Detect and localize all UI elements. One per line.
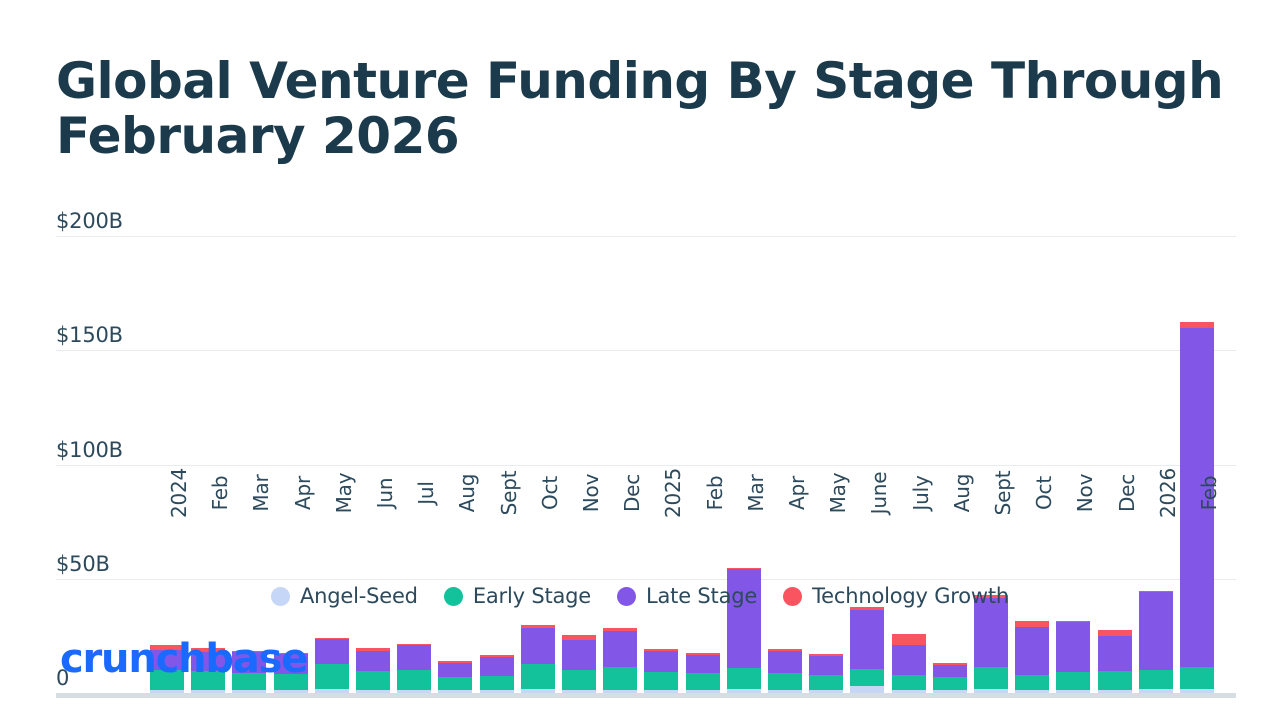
- bar-segment-early-stage: [727, 668, 761, 690]
- x-axis-tick-label: Oct: [538, 476, 562, 510]
- bar-segment-late-stage: [809, 656, 843, 675]
- x-axis-tick-label: May: [332, 473, 356, 514]
- x-axis-tick: Aug: [438, 493, 472, 559]
- x-axis-tick-label: 2025: [661, 468, 685, 518]
- x-axis-tick: 2026: [1139, 493, 1173, 559]
- bar-segment-technology-growth: [1180, 322, 1214, 329]
- x-axis-tick: Mar: [727, 493, 761, 559]
- bar-segment-early-stage: [768, 673, 802, 690]
- bar-segment-early-stage: [1098, 671, 1132, 689]
- x-axis-tick: Apr: [768, 493, 802, 559]
- bar-segment-late-stage: [603, 631, 637, 666]
- x-axis-tick: Feb: [686, 493, 720, 559]
- x-axis-tick: Sept: [974, 493, 1008, 559]
- legend-swatch-icon: [444, 587, 463, 606]
- bar-segment-early-stage: [892, 675, 926, 690]
- bar-stack[interactable]: [438, 661, 472, 693]
- bar-segment-late-stage: [480, 657, 514, 676]
- bar-segment-late-stage: [1098, 636, 1132, 671]
- plot-area: $200B$150B$100B$50B0: [56, 210, 1236, 486]
- bar-stack[interactable]: [315, 638, 349, 693]
- bar-segment-early-stage: [1015, 675, 1049, 690]
- bar-segment-angel-seed: [850, 686, 884, 693]
- x-axis-tick: Mar: [232, 493, 266, 559]
- x-axis-tick: Sept: [480, 493, 514, 559]
- x-axis-tick-label: Sept: [991, 471, 1015, 516]
- x-axis-tick: Jul: [397, 493, 431, 559]
- x-axis-tick-label: Jul: [414, 481, 438, 505]
- bar-segment-early-stage: [397, 670, 431, 689]
- bar-segment-late-stage: [768, 651, 802, 673]
- bar-stack[interactable]: [933, 663, 967, 693]
- x-axis-tick: May: [315, 493, 349, 559]
- bar-segment-early-stage: [974, 667, 1008, 690]
- page-title: Global Venture Funding By Stage Through …: [56, 54, 1246, 164]
- bar-stack[interactable]: [850, 607, 884, 693]
- x-axis-tick-label: 2024: [167, 468, 191, 518]
- bar-stack[interactable]: [768, 649, 802, 693]
- x-axis-tick-label: Nov: [579, 474, 603, 512]
- legend-item-early-stage[interactable]: Early Stage: [444, 584, 591, 608]
- chart-page: Global Venture Funding By Stage Through …: [0, 0, 1280, 715]
- x-axis-tick: 2025: [644, 493, 678, 559]
- x-axis-tick-label: Oct: [1032, 476, 1056, 510]
- bar-segment-early-stage: [1056, 672, 1090, 689]
- x-axis-tick: Oct: [521, 493, 555, 559]
- x-axis-tick-label: July: [909, 475, 933, 510]
- x-axis-tick-label: Feb: [1197, 476, 1221, 511]
- x-axis-tick-label: Jun: [373, 478, 397, 509]
- legend-swatch-icon: [271, 587, 290, 606]
- x-axis-tick-label: May: [826, 473, 850, 514]
- legend-item-label: Angel-Seed: [300, 584, 418, 608]
- bar-segment-early-stage: [644, 672, 678, 690]
- bar-segment-late-stage: [562, 640, 596, 670]
- chart-legend: Angel-SeedEarly StageLate StageTechnolog…: [0, 584, 1280, 608]
- bar-segment-late-stage: [356, 651, 390, 672]
- x-axis-tick-label: Mar: [744, 474, 768, 511]
- x-axis-tick: Aug: [933, 493, 967, 559]
- x-axis-tick: 2024: [150, 493, 184, 559]
- x-axis-tick: Dec: [603, 493, 637, 559]
- bar-segment-early-stage: [686, 673, 720, 690]
- x-axis-tick: Feb: [191, 493, 225, 559]
- x-axis-tick-label: 2026: [1156, 468, 1180, 518]
- bar-stack[interactable]: [809, 654, 843, 693]
- bar-segment-late-stage: [397, 645, 431, 670]
- x-axis-tick-label: Apr: [785, 476, 809, 510]
- legend-item-label: Late Stage: [646, 584, 757, 608]
- x-axis-tick-label: Nov: [1073, 474, 1097, 512]
- bar-segment-late-stage: [438, 663, 472, 678]
- bar-segment-early-stage: [438, 677, 472, 690]
- bar-stack[interactable]: [892, 634, 926, 693]
- bar-stack[interactable]: [356, 648, 390, 693]
- bar-stack[interactable]: [562, 635, 596, 693]
- bar-segment-early-stage: [521, 664, 555, 689]
- legend-item-technology-growth[interactable]: Technology Growth: [783, 584, 1009, 608]
- x-axis-tick-label: Mar: [249, 474, 273, 511]
- bar-segment-late-stage: [315, 639, 349, 664]
- bar-segment-early-stage: [809, 675, 843, 690]
- bar-stack[interactable]: [974, 595, 1008, 693]
- bar-segment-late-stage: [1056, 622, 1090, 672]
- bar-segment-early-stage: [562, 670, 596, 689]
- bar-segment-late-stage: [850, 610, 884, 669]
- bar-segment-late-stage: [1015, 627, 1049, 675]
- x-axis-tick-label: Sept: [497, 471, 521, 516]
- x-axis-tick-label: Dec: [1115, 474, 1139, 512]
- x-axis-tick: Jun: [356, 493, 390, 559]
- x-axis-tick: Feb: [1180, 493, 1214, 559]
- bar-segment-early-stage: [1180, 667, 1214, 690]
- x-axis-tick-label: June: [867, 472, 891, 515]
- bar-segment-early-stage: [933, 677, 967, 690]
- bar-segment-early-stage: [603, 667, 637, 690]
- bar-segment-late-stage: [892, 645, 926, 675]
- legend-swatch-icon: [783, 587, 802, 606]
- bar-stack[interactable]: [1056, 621, 1090, 693]
- bar-segment-late-stage: [974, 598, 1008, 667]
- x-axis-tick: May: [809, 493, 843, 559]
- bar-stack[interactable]: [1098, 630, 1132, 693]
- x-axis-tick: July: [892, 493, 926, 559]
- x-axis-tick: Nov: [562, 493, 596, 559]
- bar-stack[interactable]: [480, 655, 514, 693]
- x-axis-tick: Apr: [274, 493, 308, 559]
- legend-item-label: Technology Growth: [812, 584, 1009, 608]
- bar-segment-late-stage: [933, 665, 967, 678]
- x-axis-tick: Oct: [1015, 493, 1049, 559]
- bar-stack[interactable]: [1015, 621, 1049, 693]
- bar-stack[interactable]: [603, 628, 637, 693]
- bar-segment-early-stage: [1139, 670, 1173, 689]
- x-axis-tick: Dec: [1098, 493, 1132, 559]
- legend-item-late-stage[interactable]: Late Stage: [617, 584, 757, 608]
- x-axis-labels: 2024FebMarAprMayJunJulAugSeptOctNovDec20…: [56, 493, 1236, 563]
- crunchbase-logo: crunchbase: [60, 636, 307, 682]
- bar-stack[interactable]: [644, 649, 678, 693]
- bar-segment-late-stage: [686, 655, 720, 673]
- legend-item-label: Early Stage: [473, 584, 591, 608]
- bar-segment-technology-growth: [892, 634, 926, 645]
- legend-swatch-icon: [617, 587, 636, 606]
- bar-segment-late-stage: [521, 628, 555, 665]
- axis-baseline: [56, 693, 1236, 698]
- x-axis-tick: June: [850, 493, 884, 559]
- x-axis-tick-label: Aug: [455, 474, 479, 512]
- bar-segment-early-stage: [480, 676, 514, 690]
- bar-stack[interactable]: [397, 644, 431, 693]
- legend-item-angel-seed[interactable]: Angel-Seed: [271, 584, 418, 608]
- x-axis-tick: Nov: [1056, 493, 1090, 559]
- bars-layer: [56, 210, 1236, 698]
- bar-segment-early-stage: [356, 671, 390, 689]
- x-axis-tick-label: Feb: [703, 476, 727, 511]
- x-axis-tick-label: Feb: [208, 476, 232, 511]
- bar-stack[interactable]: [521, 625, 555, 693]
- x-axis-tick-label: Aug: [950, 474, 974, 512]
- bar-segment-late-stage: [644, 651, 678, 672]
- x-axis-tick-label: Dec: [620, 474, 644, 512]
- x-axis-tick-label: Apr: [291, 476, 315, 510]
- bar-segment-early-stage: [850, 669, 884, 686]
- bar-segment-early-stage: [315, 664, 349, 689]
- bar-stack[interactable]: [686, 653, 720, 693]
